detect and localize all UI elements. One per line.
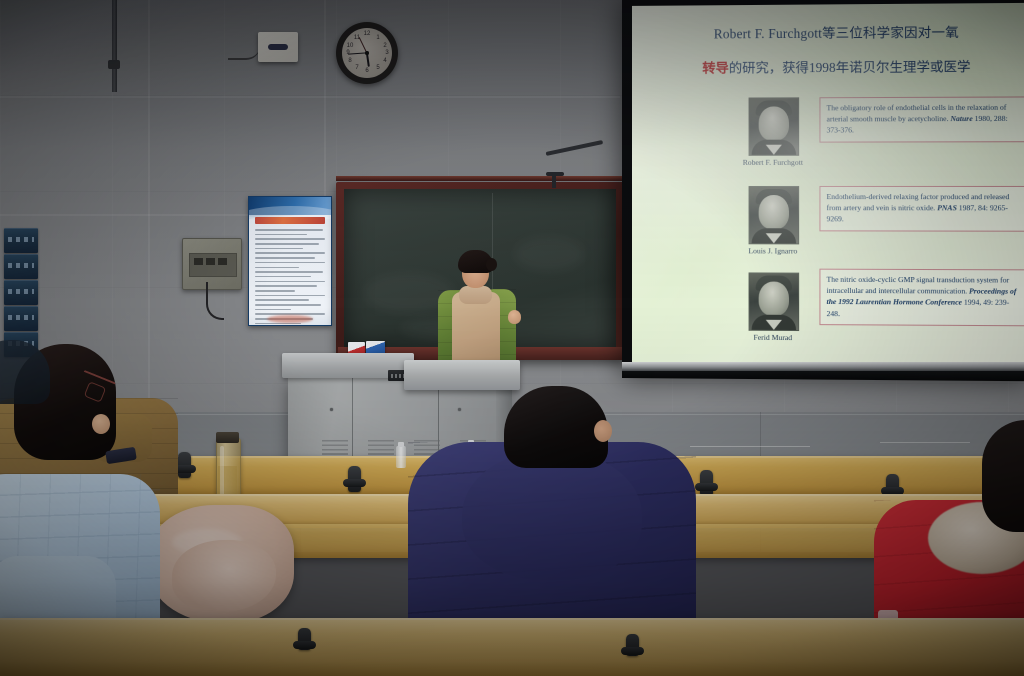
scientist-name-ignarro: Louis J. Ignarro (726, 246, 819, 255)
scientist-name-murad: Ferid Murad (726, 333, 819, 343)
clock-numeral: 4 (380, 58, 390, 64)
bottle-cap (216, 432, 239, 443)
safety-regulations-poster (248, 196, 332, 326)
slide-entry-row: Ferid Murad The nitric oxide-cyclic GMP … (632, 272, 1024, 273)
citation-journal: PNAS (937, 203, 957, 212)
bottle-highlight (220, 446, 224, 500)
presenter-turtleneck (459, 286, 492, 304)
wall-pipe (112, 0, 117, 92)
citation-ignarro: Endothelium-derived relaxing factor prod… (819, 186, 1024, 231)
slide-surface: Robert F. Furchgott等三位科学家因对一氧 转导的研究，获得19… (632, 3, 1024, 365)
lecture-hall-photo: 12 1 2 3 4 5 6 7 8 9 10 11 (0, 0, 1024, 676)
student-navy-ear (594, 420, 612, 442)
bench-hinge[interactable] (348, 466, 361, 492)
bench-hinge[interactable] (178, 452, 191, 478)
projection-screen: Robert F. Furchgott等三位科学家因对一氧 转导的研究，获得19… (622, 0, 1024, 381)
student-tan-hand (92, 414, 110, 434)
poster-footer-mark (267, 315, 313, 323)
small-bottle (396, 446, 406, 468)
clock-numeral: 3 (382, 50, 392, 56)
wall-seam (148, 0, 150, 436)
wall-seam (0, 96, 620, 98)
slide-heading-text: Robert F. Furchgott等三位科学家因对一氧 (714, 25, 959, 42)
portrait-murad (749, 272, 800, 331)
wall-clock: 12 1 2 3 4 5 6 7 8 9 10 11 (336, 22, 398, 84)
screen-bottom-rail (622, 362, 1024, 371)
portrait-furchgott (749, 97, 800, 156)
citation-journal: Nature (950, 114, 972, 123)
clock-face: 12 1 2 3 4 5 6 7 8 9 10 11 (342, 28, 392, 78)
wall-seam (324, 0, 326, 200)
portrait-ignarro (749, 186, 800, 244)
clock-numeral: 5 (373, 65, 383, 71)
board-hook-stem (552, 174, 556, 188)
citation-furchgott: The obligatory role of endothelial cells… (819, 96, 1024, 142)
citation-line-3: acetycholine. (908, 114, 951, 123)
citation-line-1: The obligatory role of endothelial cells… (827, 103, 954, 113)
clock-numeral: 1 (373, 35, 383, 41)
bench-hinge[interactable] (700, 470, 713, 496)
slide-heading-highlight: 转导 (702, 60, 729, 75)
poster-title-bar (255, 217, 325, 224)
blackboard-top-rail (336, 176, 624, 181)
clock-numeral: 12 (362, 31, 372, 37)
slide-heading-line-1: Robert F. Furchgott等三位科学家因对一氧 (640, 17, 1024, 50)
bench-desk-front (0, 618, 1024, 676)
lectern-desktop (404, 360, 520, 390)
clock-hour-hand (366, 53, 370, 67)
slide-entry-row: Robert F. Furchgott The obligatory role … (632, 96, 1024, 98)
poster-body-text (255, 229, 325, 326)
citation-line-1: The nitric oxide-cyclic GMP signal (827, 275, 935, 285)
panel-face (189, 253, 237, 277)
wall-seam (0, 214, 250, 216)
pipe-clip (108, 60, 120, 69)
student-navy-hair (504, 386, 608, 468)
presenter-hair-bun (486, 258, 497, 271)
clock-numeral: 2 (380, 43, 390, 49)
bench-hinge[interactable] (298, 628, 311, 650)
citation-line-3: intercellular communication. (878, 286, 969, 295)
citation-line-1: Endothelium-derived relaxing factor (827, 192, 939, 201)
clock-numeral: 7 (352, 65, 362, 71)
wall-speaker-device (258, 32, 298, 62)
clock-center-pin (365, 51, 369, 55)
citation-line-3: is nitric oxide. (891, 203, 937, 212)
scientist-name-furchgott: Robert F. Furchgott (726, 158, 819, 167)
presenter-hand (508, 310, 521, 324)
clock-numeral: 8 (345, 58, 355, 64)
slide-heading-line-2: 转导的研究，获得1998年诺贝尔生理学或医学 (640, 52, 1024, 84)
bench-hinge[interactable] (626, 634, 639, 656)
slide-heading-rest: 的研究，获得1998年诺贝尔生理学或医学 (729, 59, 971, 75)
citation-murad: The nitric oxide-cyclic GMP signal trans… (819, 269, 1024, 326)
clock-numeral: 6 (362, 68, 372, 74)
clock-numeral: 10 (345, 43, 355, 49)
